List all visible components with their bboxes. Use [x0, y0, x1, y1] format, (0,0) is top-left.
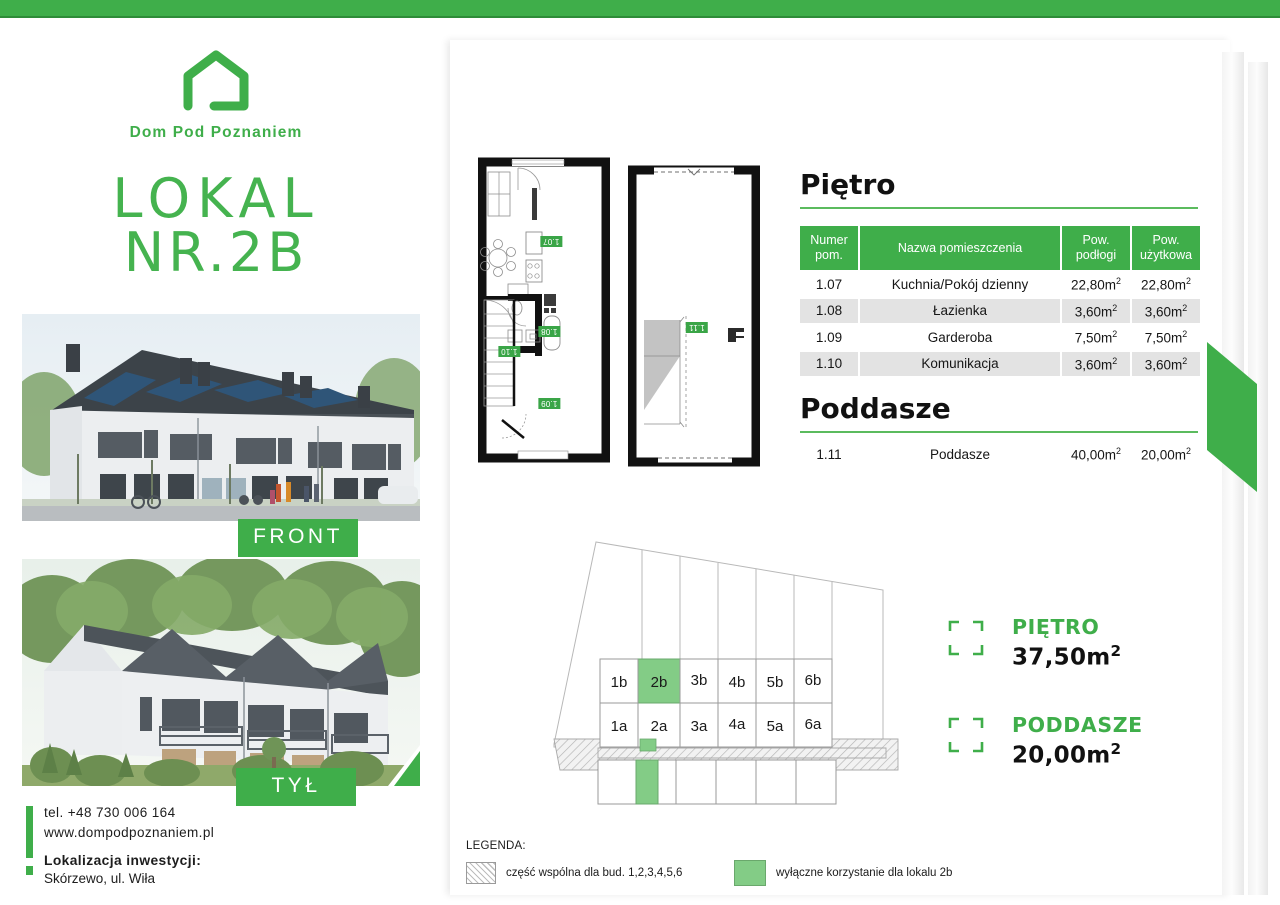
th-room-name: Nazwa pomieszczenia: [860, 226, 1060, 270]
top-green-band: [0, 0, 1280, 16]
section-title-poddasze: Poddasze: [800, 392, 951, 425]
site-unit-label: 1a: [611, 718, 628, 735]
cell-room-name: Komunikacja: [860, 352, 1060, 377]
cell-usable-area: 20,00m2: [1132, 442, 1200, 467]
contact-address: Skórzewo, ul. Wiła: [44, 871, 344, 886]
legend-swatch-green: [734, 860, 766, 886]
th-usable-area: Pow. użytkowa: [1132, 226, 1200, 270]
contact-accent-bar: [26, 806, 33, 858]
brand-logo: Dom Pod Poznaniem: [0, 50, 432, 142]
cell-room-name: Kuchnia/Pokój dzienny: [860, 272, 1060, 297]
legend-swatch-hatched: [466, 862, 496, 884]
table-row: 1.11 Poddasze 40,00m2 20,00m2: [800, 442, 1200, 467]
area-value-poddasze: 20,00m2: [1012, 740, 1121, 769]
table-row: 1.10 Komunikacja 3,60m2 3,60m2: [800, 352, 1200, 377]
brand-name: Dom Pod Poznaniem: [0, 124, 432, 142]
table-row: 1.08 Łazienka 3,60m2 3,60m2: [800, 299, 1200, 324]
rooms-table-poddasze: 1.11 Poddasze 40,00m2 20,00m2: [798, 440, 1202, 469]
table-header-row: Numer pom. Nazwa pomieszczenia Pow. podł…: [800, 226, 1200, 270]
cell-room-name: Garderoba: [860, 325, 1060, 350]
floorplan-pietro-drawing: 1.07 1.08 1.09 1.10: [478, 148, 610, 470]
contact-block: tel. +48 730 006 164 www.dompodpoznaniem…: [44, 803, 344, 886]
cell-number: 1.10: [800, 352, 858, 377]
site-unit-label: 3b: [691, 672, 708, 689]
cell-usable-area: 22,80m2: [1132, 272, 1200, 297]
room-label-1-08: 1.08: [538, 326, 560, 337]
th-floor-area: Pow. podłogi: [1062, 226, 1130, 270]
site-unit-label: 1b: [611, 674, 628, 691]
contact-website[interactable]: www.dompodpoznaniem.pl: [44, 823, 344, 843]
section-title-pietro: Piętro: [800, 168, 896, 201]
contact-phone[interactable]: tel. +48 730 006 164: [44, 803, 344, 823]
render-front-image: [22, 314, 420, 521]
corner-brackets-icon: [948, 717, 984, 753]
site-unit-label: 3a: [691, 718, 708, 735]
title-line-2: NR.2B: [0, 227, 432, 279]
area-value-pietro: 37,50m2: [1012, 642, 1121, 671]
cell-number: 1.07: [800, 272, 858, 297]
site-unit-label: 4a: [729, 716, 746, 733]
cell-floor-area: 3,60m2: [1062, 299, 1130, 324]
rooms-table-pietro: Numer pom. Nazwa pomieszczenia Pow. podł…: [798, 224, 1202, 378]
room-label-1-09: 1.09: [538, 398, 560, 409]
site-unit-label: 2b: [651, 674, 668, 691]
room-label-1-07: 1.07: [540, 236, 562, 247]
corner-brackets-icon: [948, 620, 984, 656]
cell-floor-area: 40,00m2: [1062, 442, 1130, 467]
legend-title: LEGENDA:: [466, 840, 526, 852]
site-unit-label: 2a: [651, 718, 668, 735]
document-page: Dom Pod Poznaniem LOKAL NR.2B: [0, 0, 1280, 905]
room-label-1-10: 1.10: [498, 346, 520, 357]
section-rule-pietro: [800, 207, 1198, 209]
house-outline-icon: [180, 50, 252, 112]
cell-floor-area: 22,80m2: [1062, 272, 1130, 297]
room-label-1-11: 1.11: [686, 322, 708, 333]
cell-usable-area: 3,60m2: [1132, 352, 1200, 377]
th-number: Numer pom.: [800, 226, 858, 270]
cell-room-name: Poddasze: [860, 442, 1060, 467]
title-line-1: LOKAL: [0, 173, 432, 225]
contact-accent-dot: [26, 866, 33, 875]
contact-location-label: Lokalizacja inwestycji:: [44, 851, 344, 871]
cell-number: 1.08: [800, 299, 858, 324]
cell-number: 1.11: [800, 442, 858, 467]
table-row: 1.07 Kuchnia/Pokój dzienny 22,80m2 22,80…: [800, 272, 1200, 297]
cell-usable-area: 7,50m2: [1132, 325, 1200, 350]
cell-floor-area: 7,50m2: [1062, 325, 1130, 350]
section-rule-poddasze: [800, 431, 1198, 433]
legend-text-exclusive-use: wyłączne korzystanie dla lokalu 2b: [776, 867, 952, 879]
area-label-pietro: PIĘTRO: [1012, 615, 1099, 639]
cell-number: 1.09: [800, 325, 858, 350]
cell-usable-area: 3,60m2: [1132, 299, 1200, 324]
site-unit-label: 6a: [805, 716, 822, 733]
site-unit-label: 4b: [729, 674, 746, 691]
page-title: LOKAL NR.2B: [0, 173, 432, 280]
site-unit-label: 5b: [767, 674, 784, 691]
area-label-poddasze: PODDASZE: [1012, 713, 1143, 737]
site-plan-diagram: 1b 2b 3b 4b 5b 6b 1a 2a 3a 4a 5a 6a: [546, 532, 906, 817]
cell-floor-area: 3,60m2: [1062, 352, 1130, 377]
floorplan-poddasze-drawing: 1.11: [628, 160, 760, 470]
cell-room-name: Łazienka: [860, 299, 1060, 324]
site-unit-label: 5a: [767, 718, 784, 735]
caption-front: FRONT: [238, 519, 358, 557]
site-unit-label: 6b: [805, 672, 822, 689]
legend-text-common-area: część wspólna dla bud. 1,2,3,4,5,6: [506, 867, 682, 879]
table-row: 1.09 Garderoba 7,50m2 7,50m2: [800, 325, 1200, 350]
